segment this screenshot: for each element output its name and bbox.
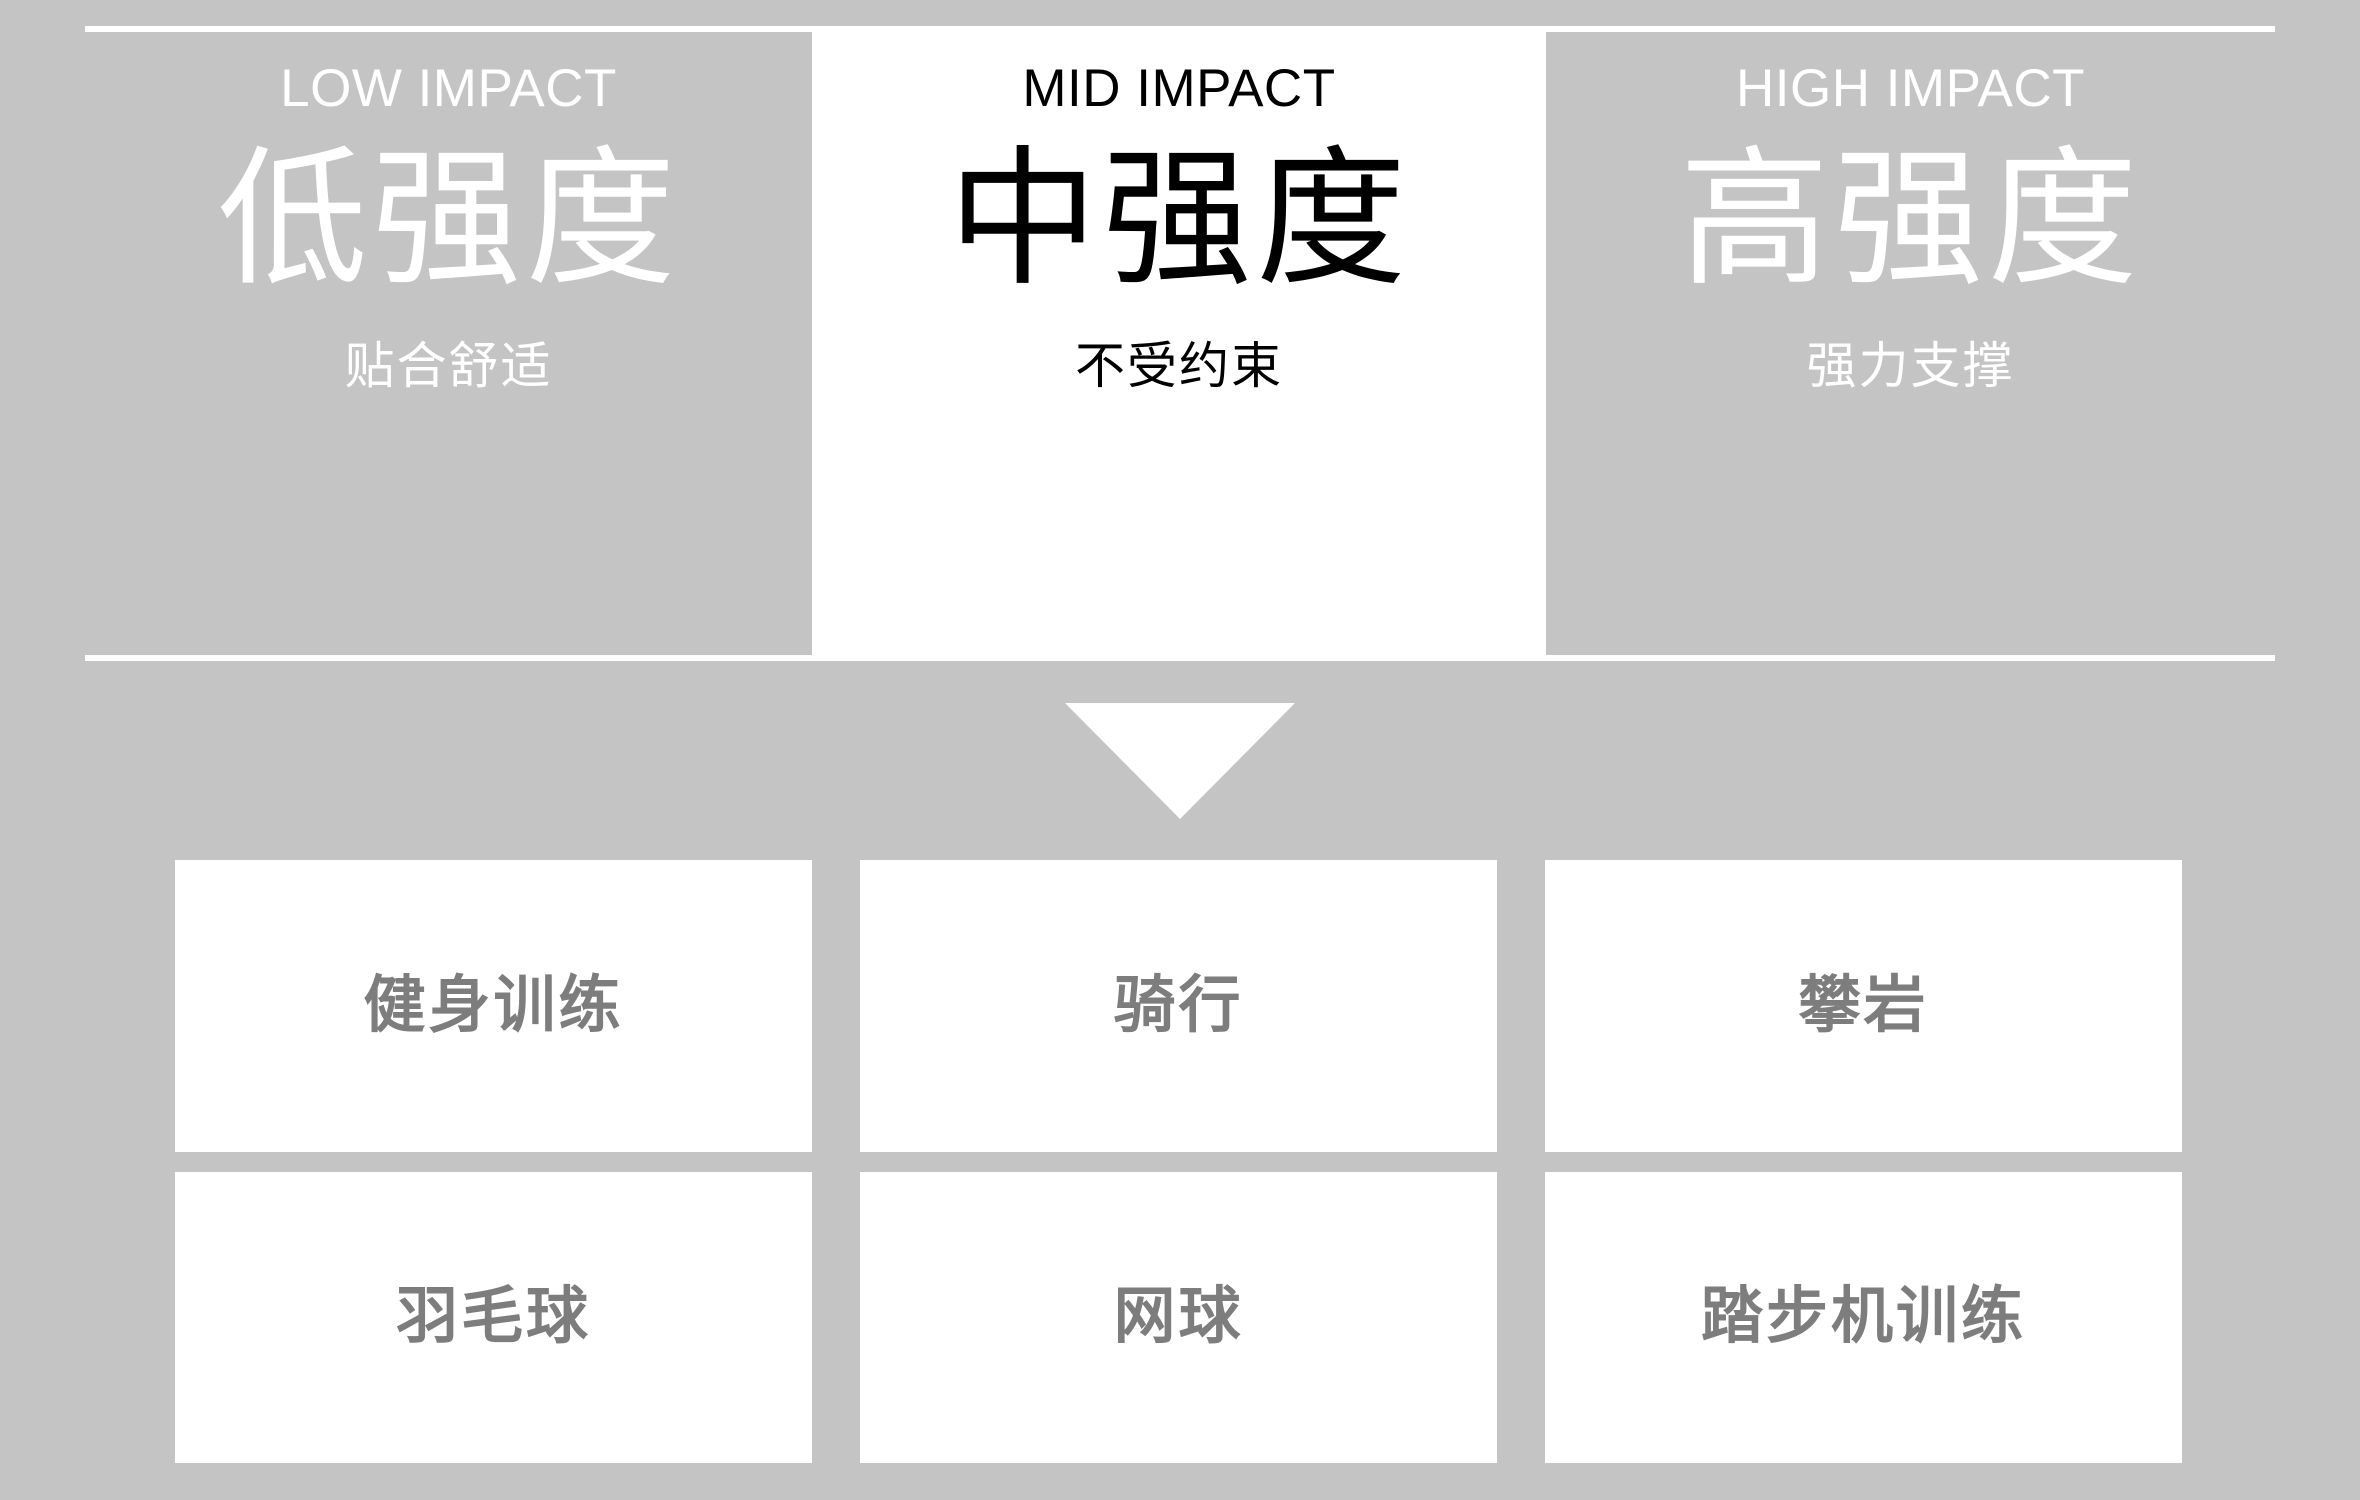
activity-cell[interactable]: 健身训练 [175,860,812,1152]
triangle-down-icon [1065,703,1295,819]
activity-label: 踏步机训练 [1701,1286,2026,1348]
impact-column-mid[interactable]: MID IMPACT 中强度 不受约束 [812,32,1546,656]
impact-columns: LOW IMPACT 低强度 贴合舒适 MID IMPACT 中强度 不受约束 … [85,32,2275,656]
activity-label: 网球 [1113,1286,1243,1348]
activity-grid: 健身训练 骑行 攀岩 羽毛球 网球 踏步机训练 [175,860,2182,1463]
impact-eyebrow-mid: MID IMPACT [1022,62,1335,115]
impact-column-high[interactable]: HIGH IMPACT 高强度 强力支撑 [1546,32,2275,656]
impact-headline-low: 低强度 [217,141,679,299]
activity-label: 骑行 [1113,975,1243,1037]
activity-cell[interactable]: 羽毛球 [175,1172,812,1464]
activity-cell[interactable]: 踏步机训练 [1545,1172,2182,1464]
impact-subline-mid: 不受约束 [1075,341,1283,391]
activity-cell[interactable]: 攀岩 [1545,860,2182,1152]
impact-eyebrow-high: HIGH IMPACT [1736,62,2085,115]
activity-label: 健身训练 [363,975,623,1037]
activity-label: 攀岩 [1798,975,1928,1037]
activity-cell[interactable]: 骑行 [860,860,1497,1152]
impact-subline-low: 贴合舒适 [345,341,553,391]
header-bottom-rule [85,655,2275,661]
activity-cell[interactable]: 网球 [860,1172,1497,1464]
impact-subline-high: 强力支撑 [1807,341,2015,391]
impact-column-low[interactable]: LOW IMPACT 低强度 贴合舒适 [85,32,812,656]
activity-label: 羽毛球 [396,1286,591,1348]
impact-level-selector: LOW IMPACT 低强度 贴合舒适 MID IMPACT 中强度 不受约束 … [0,0,2360,1500]
impact-headline-high: 高强度 [1679,141,2141,299]
impact-eyebrow-low: LOW IMPACT [280,62,617,115]
impact-headline-mid: 中强度 [948,141,1410,299]
